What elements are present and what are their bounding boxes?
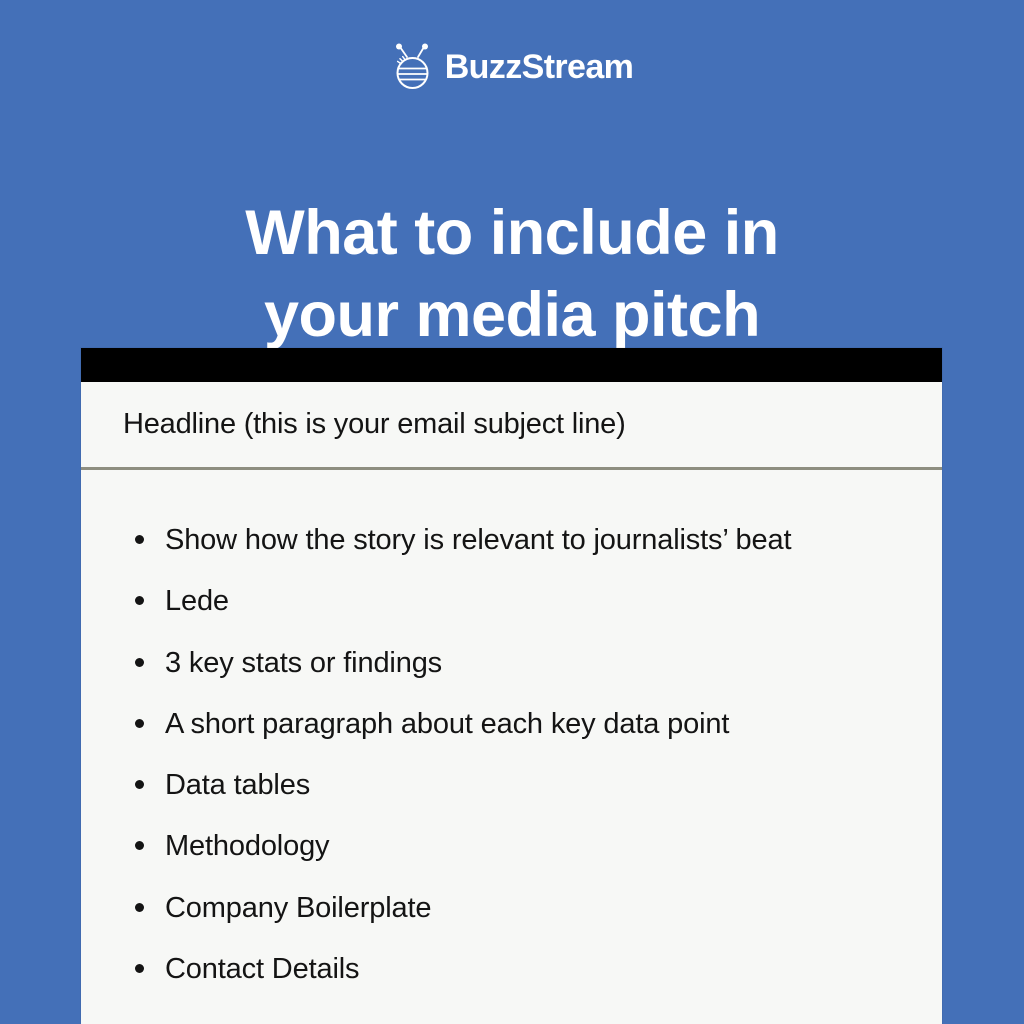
- list-item-label: Methodology: [165, 830, 329, 862]
- content-card: Headline (this is your email subject lin…: [81, 348, 942, 1024]
- list-item: Data tables: [133, 767, 912, 803]
- list-item-label: Contact Details: [165, 953, 359, 985]
- list-item: Lede: [133, 583, 912, 619]
- bullet-icon: [135, 964, 144, 973]
- bullet-icon: [135, 903, 144, 912]
- bullet-icon: [135, 596, 144, 605]
- bullet-icon: [135, 658, 144, 667]
- list-item: 3 key stats or findings: [133, 645, 912, 681]
- list-item-label: 3 key stats or findings: [165, 647, 442, 679]
- list-item: Company Boilerplate: [133, 890, 912, 926]
- list-item: Methodology: [133, 828, 912, 864]
- card-top-bar: [81, 348, 942, 382]
- list-item-label: Company Boilerplate: [165, 892, 431, 924]
- checklist: Show how the story is relevant to journa…: [81, 470, 942, 987]
- list-item: Contact Details: [133, 951, 912, 987]
- bullet-icon: [135, 841, 144, 850]
- list-item: A short paragraph about each key data po…: [133, 706, 912, 742]
- list-item-label: Show how the story is relevant to journa…: [165, 524, 791, 556]
- list-item-label: Data tables: [165, 769, 310, 801]
- buzzstream-bee-icon: [391, 43, 435, 91]
- list-item-label: A short paragraph about each key data po…: [165, 708, 729, 740]
- list-item: Show how the story is relevant to journa…: [133, 522, 912, 558]
- bullet-icon: [135, 719, 144, 728]
- brand-name: BuzzStream: [445, 50, 634, 84]
- card-headline-text: Headline (this is your email subject lin…: [123, 407, 626, 442]
- list-item-label: Lede: [165, 585, 229, 617]
- page-title: What to include in your media pitch: [62, 192, 962, 356]
- bullet-icon: [135, 535, 144, 544]
- bullet-icon: [135, 780, 144, 789]
- poster-canvas: BuzzStream What to include in your media…: [0, 0, 1024, 1024]
- card-headline-row: Headline (this is your email subject lin…: [81, 382, 942, 467]
- brand-lockup: BuzzStream: [0, 38, 1024, 96]
